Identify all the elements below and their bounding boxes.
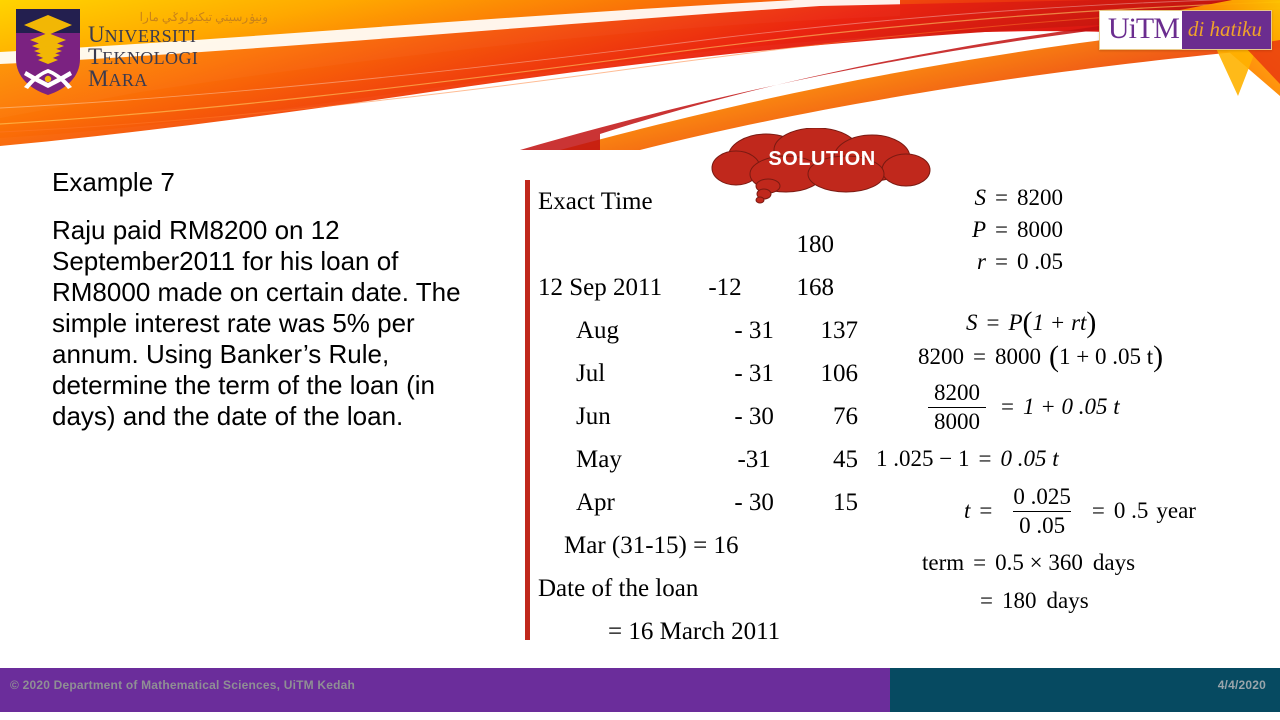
example-heading: Example 7: [52, 165, 492, 199]
term-label: term: [922, 550, 964, 576]
substitution-body: 1 + 0 .05 t: [1059, 344, 1153, 370]
row-minus: - 30: [719, 489, 790, 517]
substitution-principal: 8000: [995, 344, 1041, 370]
table-row: Apr - 30 15: [538, 481, 858, 524]
term-unit: days: [1093, 550, 1135, 576]
row-label: 12 Sep 2011: [538, 274, 688, 302]
row-value: 106: [789, 360, 858, 388]
decimal-rhs: 0 .05 t: [1000, 446, 1058, 472]
decimal-lhs: 1 .025 − 1: [876, 446, 969, 472]
equals-sign: =: [992, 394, 1023, 420]
dihatiku-slogan-text: di hatiku: [1182, 11, 1271, 49]
open-paren: (: [1049, 340, 1059, 374]
row-label: Jun: [538, 403, 719, 431]
table-row: 12 Sep 2011 -12 168: [538, 266, 858, 309]
row-value: 45: [789, 446, 858, 474]
equals-sign: =: [986, 249, 1017, 275]
date-title-row: Date of the loan: [538, 567, 858, 610]
row-minus: - 31: [719, 317, 790, 345]
final-answer-line: = 180 days: [870, 582, 1270, 620]
ratio-step-line: 8200 8000 = 1 + 0 .05 t: [870, 374, 1270, 440]
row-minus: -12: [688, 274, 762, 302]
substitution-lhs: 8200: [918, 344, 964, 370]
uitm-wordmark: ونيۏرسيتي تيكنولوݢي مارا UNIVERSITI TEKN…: [88, 10, 268, 102]
given-s-symbol: S: [968, 185, 986, 211]
march-calculation: Mar (31-15) = 16: [538, 532, 738, 560]
equation-spacer: [870, 278, 1270, 306]
footer-copyright-text: © 2020 Department of Mathematical Scienc…: [10, 678, 355, 692]
solve-t-result: 0 .5: [1114, 498, 1149, 524]
table-row: 180: [538, 223, 858, 266]
solve-t-line: t = 0 .025 0 .05 = 0 .5 year: [870, 478, 1270, 544]
equals-sign: =: [964, 550, 995, 576]
equals-sign: =: [970, 498, 1001, 524]
wordmark-line-1: UNIVERSITI: [88, 24, 268, 46]
ratio-fraction: 8200 8000: [928, 380, 986, 435]
row-label: May: [538, 446, 719, 474]
dihatiku-uitm-text: UiTM: [1100, 11, 1182, 49]
date-answer-row: = 16 March 2011: [538, 610, 858, 653]
footer-date-text: 4/4/2020: [1218, 678, 1266, 692]
open-paren: (: [1023, 306, 1033, 340]
formula-principal: P: [1008, 310, 1022, 336]
uitm-crest-logo: [14, 9, 82, 95]
row-minus: -31: [719, 446, 790, 474]
given-r-symbol: r: [968, 249, 986, 275]
decimal-step-line: 1 .025 − 1 = 0 .05 t: [870, 440, 1270, 478]
row-value: 76: [789, 403, 858, 431]
solve-t-numerator: 0 .025: [1007, 484, 1077, 511]
jawi-script-line: ونيۏرسيتي تيكنولوݢي مارا: [88, 10, 268, 24]
given-p-symbol: P: [968, 217, 986, 243]
date-of-loan-answer: = 16 March 2011: [538, 618, 780, 646]
equals-sign: =: [978, 310, 1009, 336]
march-row: Mar (31-15) = 16: [538, 524, 858, 567]
substitution-line: 8200 = 8000 ( 1 + 0 .05 t ): [870, 340, 1270, 374]
table-row: May -31 45: [538, 438, 858, 481]
solution-equations: S = 8200 P = 8000 r = 0 .05 S = P ( 1 + …: [870, 182, 1270, 620]
given-s-value: 8200: [1017, 185, 1063, 211]
table-row: Aug - 31 137: [538, 309, 858, 352]
given-r: r = 0 .05: [870, 246, 1270, 278]
equals-sign: =: [1083, 498, 1114, 524]
ratio-denominator: 8000: [928, 407, 986, 435]
table-row: Jul - 31 106: [538, 352, 858, 395]
row-value: 15: [789, 489, 858, 517]
term-expression: 0.5 × 360: [995, 550, 1083, 576]
row-label: Apr: [538, 489, 719, 517]
ratio-numerator: 8200: [928, 380, 986, 407]
example-question-text: Raju paid RM8200 on 12 September2011 for…: [52, 215, 492, 432]
final-answer-unit: days: [1046, 588, 1088, 614]
date-of-loan-title: Date of the loan: [538, 575, 698, 603]
row-minus: - 30: [719, 403, 790, 431]
given-p-value: 8000: [1017, 217, 1063, 243]
equals-sign: =: [964, 344, 995, 370]
solve-t-unit: year: [1156, 498, 1196, 524]
example-text-block: Example 7 Raju paid RM8200 on 12 Septemb…: [52, 165, 492, 432]
formula-line: S = P ( 1 + rt ): [870, 306, 1270, 340]
ratio-rhs: 1 + 0 .05 t: [1023, 394, 1120, 420]
solve-t-denominator: 0 .05: [1013, 511, 1071, 539]
wordmark-line-3: MARA: [88, 68, 268, 90]
table-row: Jun - 30 76: [538, 395, 858, 438]
exact-time-title-row: Exact Time: [538, 180, 858, 223]
close-paren: ): [1086, 306, 1096, 340]
wordmark-line-2: TEKNOLOGI: [88, 46, 268, 68]
given-s: S = 8200: [870, 182, 1270, 214]
formula-body: 1 + rt: [1033, 310, 1087, 336]
uitm-di-hatiku-logo: UiTM di hatiku: [1099, 10, 1272, 50]
final-answer-value: 180: [1002, 588, 1037, 614]
equals-sign: =: [986, 217, 1017, 243]
equals-sign: =: [969, 446, 1000, 472]
close-paren: ): [1153, 340, 1163, 374]
middle-column-divider: [525, 180, 530, 640]
solve-t-fraction: 0 .025 0 .05: [1007, 484, 1077, 539]
exact-time-title: Exact Time: [538, 188, 653, 216]
row-value: 137: [789, 317, 858, 345]
row-label: Jul: [538, 360, 719, 388]
equals-sign: =: [980, 588, 1002, 614]
given-p: P = 8000: [870, 214, 1270, 246]
row-label: Aug: [538, 317, 719, 345]
formula-lhs: S: [966, 310, 978, 336]
equals-sign: =: [986, 185, 1017, 211]
row-value: 180: [762, 231, 834, 259]
exact-time-table: Exact Time 180 12 Sep 2011 -12 168 Aug -…: [538, 180, 858, 653]
given-r-value: 0 .05: [1017, 249, 1063, 275]
term-line: term = 0.5 × 360 days: [870, 544, 1270, 582]
row-value: 168: [762, 274, 834, 302]
row-minus: - 31: [719, 360, 790, 388]
